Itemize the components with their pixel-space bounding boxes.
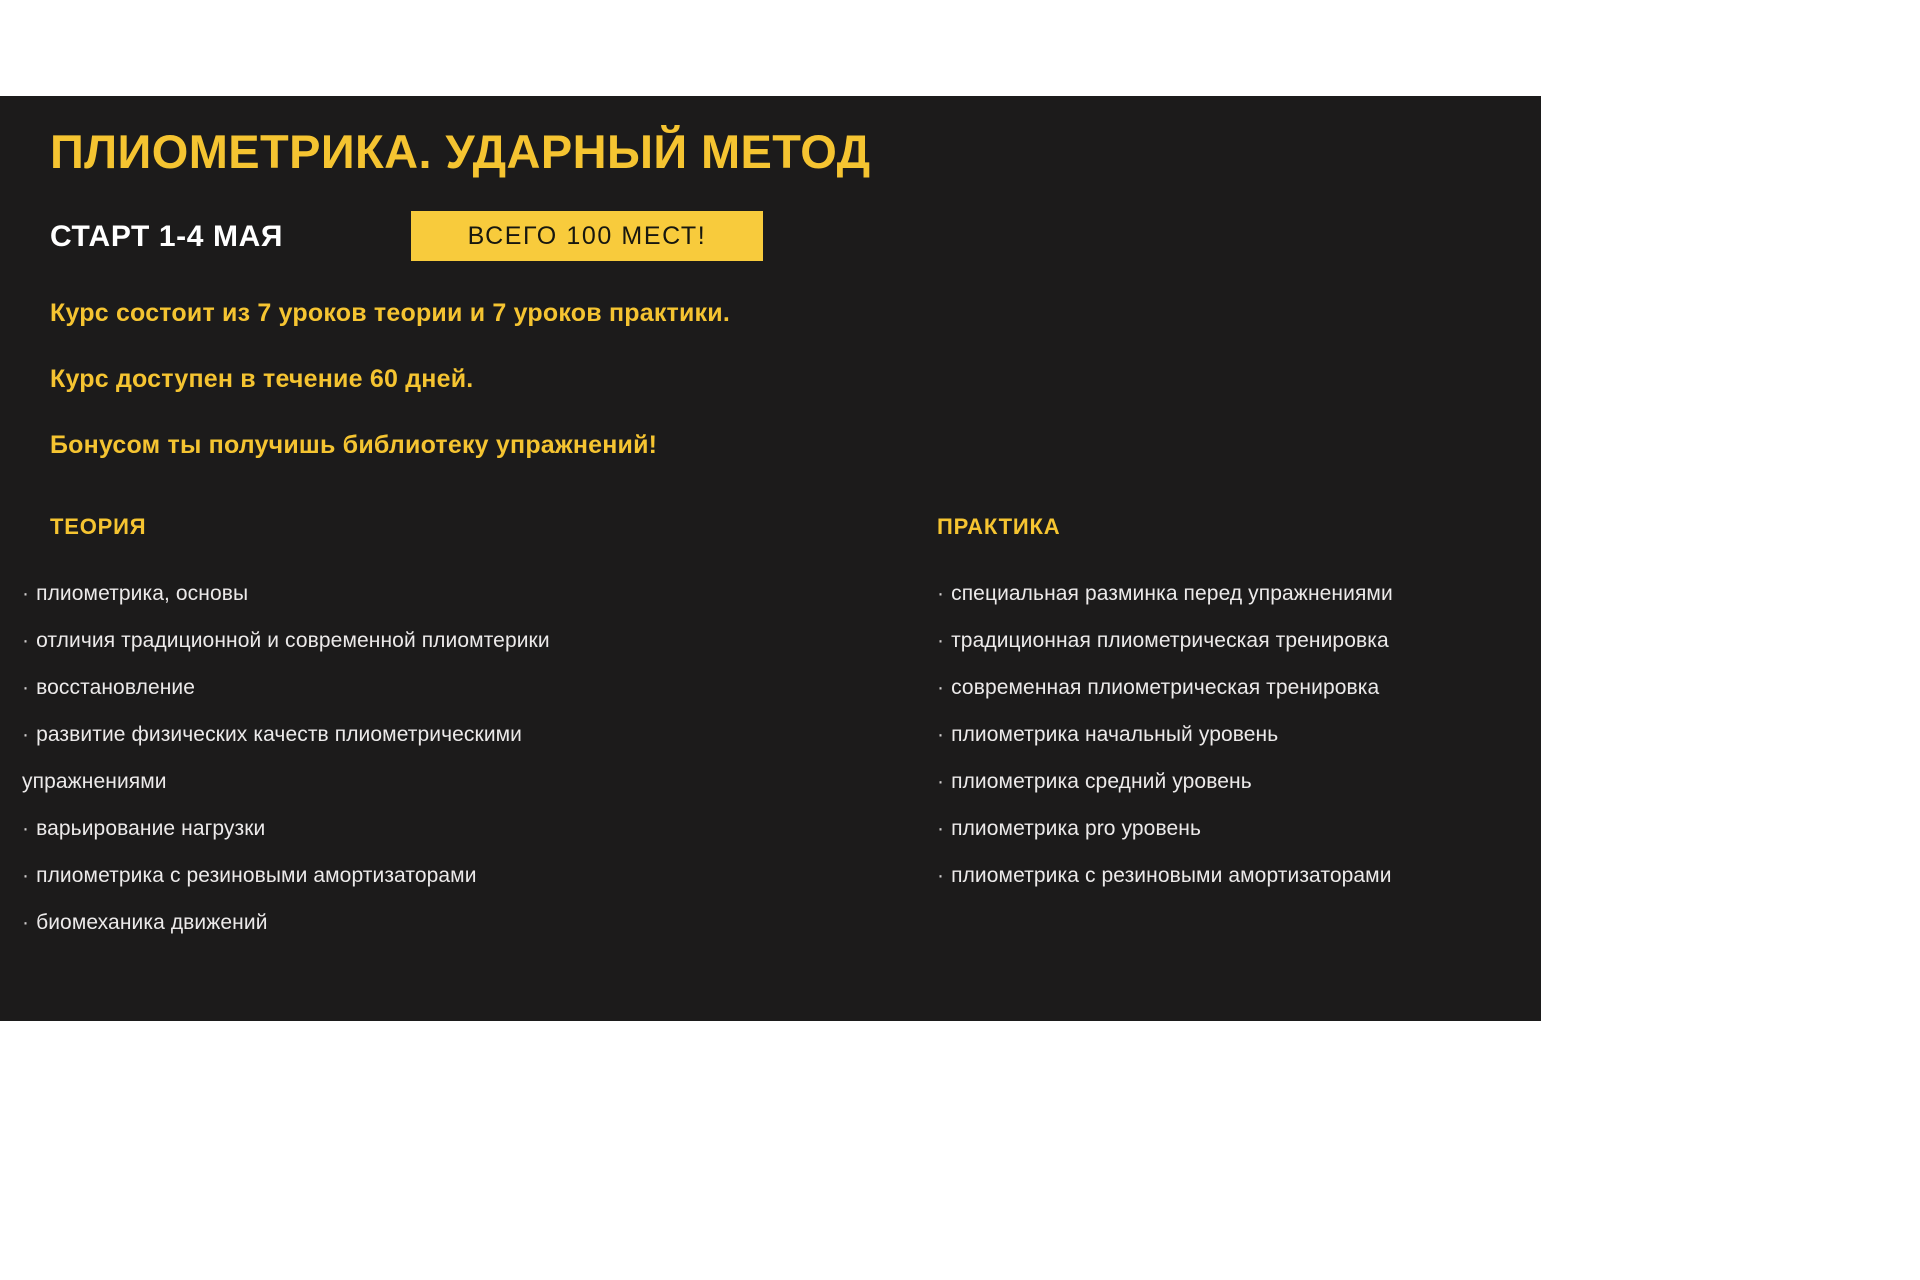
bullet-dot-icon: · xyxy=(937,582,944,605)
column-theory-heading: ТЕОРИЯ xyxy=(50,514,912,540)
list-item-label: варьирование нагрузки xyxy=(36,817,265,840)
bullet-dot-icon: · xyxy=(937,676,944,699)
list-item-label: плиометрика средний уровень xyxy=(951,770,1252,793)
column-theory: ТЕОРИЯ ·плиометрика, основы·отличия трад… xyxy=(22,514,912,946)
promo-panel: ПЛИОМЕТРИКА. УДАРНЫЙ МЕТОД СТАРТ 1-4 МАЯ… xyxy=(0,96,1541,1021)
bullet-dot-icon: · xyxy=(937,770,944,793)
list-item: ·плиометрика с резиновыми амортизаторами xyxy=(937,852,1537,899)
list-item-label: специальная разминка перед упражнениями xyxy=(951,582,1393,605)
bullet-dot-icon: · xyxy=(22,629,29,652)
list-item: ·традиционная плиометрическая тренировка xyxy=(937,617,1537,664)
list-item-label: современная плиометрическая тренировка xyxy=(951,676,1379,699)
page-title: ПЛИОМЕТРИКА. УДАРНЫЙ МЕТОД xyxy=(50,124,870,179)
list-item-label: плиометрика с резиновыми амортизаторами xyxy=(951,864,1391,887)
list-item: ·развитие физических качеств плиометриче… xyxy=(22,711,912,758)
list-item: ·варьирование нагрузки xyxy=(22,805,912,852)
list-item: упражнениями xyxy=(22,758,912,805)
list-item: ·восстановление xyxy=(22,664,912,711)
bullet-dot-icon: · xyxy=(937,629,944,652)
bullet-dot-icon: · xyxy=(22,723,29,746)
list-item-label: традиционная плиометрическая тренировка xyxy=(951,629,1389,652)
column-practice-heading: ПРАКТИКА xyxy=(937,514,1537,540)
list-item-label: упражнениями xyxy=(22,770,167,793)
bullet-dot-icon: · xyxy=(22,817,29,840)
statement-line: Курс состоит из 7 уроков теории и 7 урок… xyxy=(50,299,1250,328)
list-item-label: плиометрика с резиновыми амортизаторами xyxy=(36,864,476,887)
bullet-dot-icon: · xyxy=(937,864,944,887)
seats-badge: ВСЕГО 100 МЕСТ! xyxy=(411,211,763,261)
practice-list: ·специальная разминка перед упражнениями… xyxy=(937,570,1537,899)
list-item: ·плиометрика начальный уровень xyxy=(937,711,1537,758)
statements-block: Курс состоит из 7 уроков теории и 7 урок… xyxy=(50,299,1250,497)
list-item-label: биомеханика движений xyxy=(36,911,267,934)
list-item: ·плиометрика средний уровень xyxy=(937,758,1537,805)
list-item-label: плиометрика, основы xyxy=(36,582,248,605)
list-item: ·плиометрика с резиновыми амортизаторами xyxy=(22,852,912,899)
theory-list: ·плиометрика, основы·отличия традиционно… xyxy=(22,570,912,946)
page-root: ПЛИОМЕТРИКА. УДАРНЫЙ МЕТОД СТАРТ 1-4 МАЯ… xyxy=(0,0,1920,1280)
seats-badge-label: ВСЕГО 100 МЕСТ! xyxy=(468,222,707,251)
list-item: ·плиометрика, основы xyxy=(22,570,912,617)
bullet-dot-icon: · xyxy=(937,723,944,746)
bullet-dot-icon: · xyxy=(22,676,29,699)
list-item-label: восстановление xyxy=(36,676,195,699)
column-practice: ПРАКТИКА ·специальная разминка перед упр… xyxy=(937,514,1537,899)
list-item-label: развитие физических качеств плиометричес… xyxy=(36,723,522,746)
statement-line: Курс доступен в течение 60 дней. xyxy=(50,365,1250,394)
list-item: ·современная плиометрическая тренировка xyxy=(937,664,1537,711)
bullet-dot-icon: · xyxy=(22,864,29,887)
list-item-label: плиометрика начальный уровень xyxy=(951,723,1278,746)
list-item: ·специальная разминка перед упражнениями xyxy=(937,570,1537,617)
list-item: ·плиометрика pro уровень xyxy=(937,805,1537,852)
bullet-dot-icon: · xyxy=(937,817,944,840)
list-item-label: отличия традиционной и современной плиом… xyxy=(36,629,550,652)
list-item-label: плиометрика pro уровень xyxy=(951,817,1201,840)
start-date-label: СТАРТ 1-4 МАЯ xyxy=(50,220,283,254)
statement-line: Бонусом ты получишь библиотеку упражнени… xyxy=(50,431,1250,460)
bullet-dot-icon: · xyxy=(22,911,29,934)
bullet-dot-icon: · xyxy=(22,582,29,605)
list-item: ·биомеханика движений xyxy=(22,899,912,946)
list-item: ·отличия традиционной и современной плио… xyxy=(22,617,912,664)
